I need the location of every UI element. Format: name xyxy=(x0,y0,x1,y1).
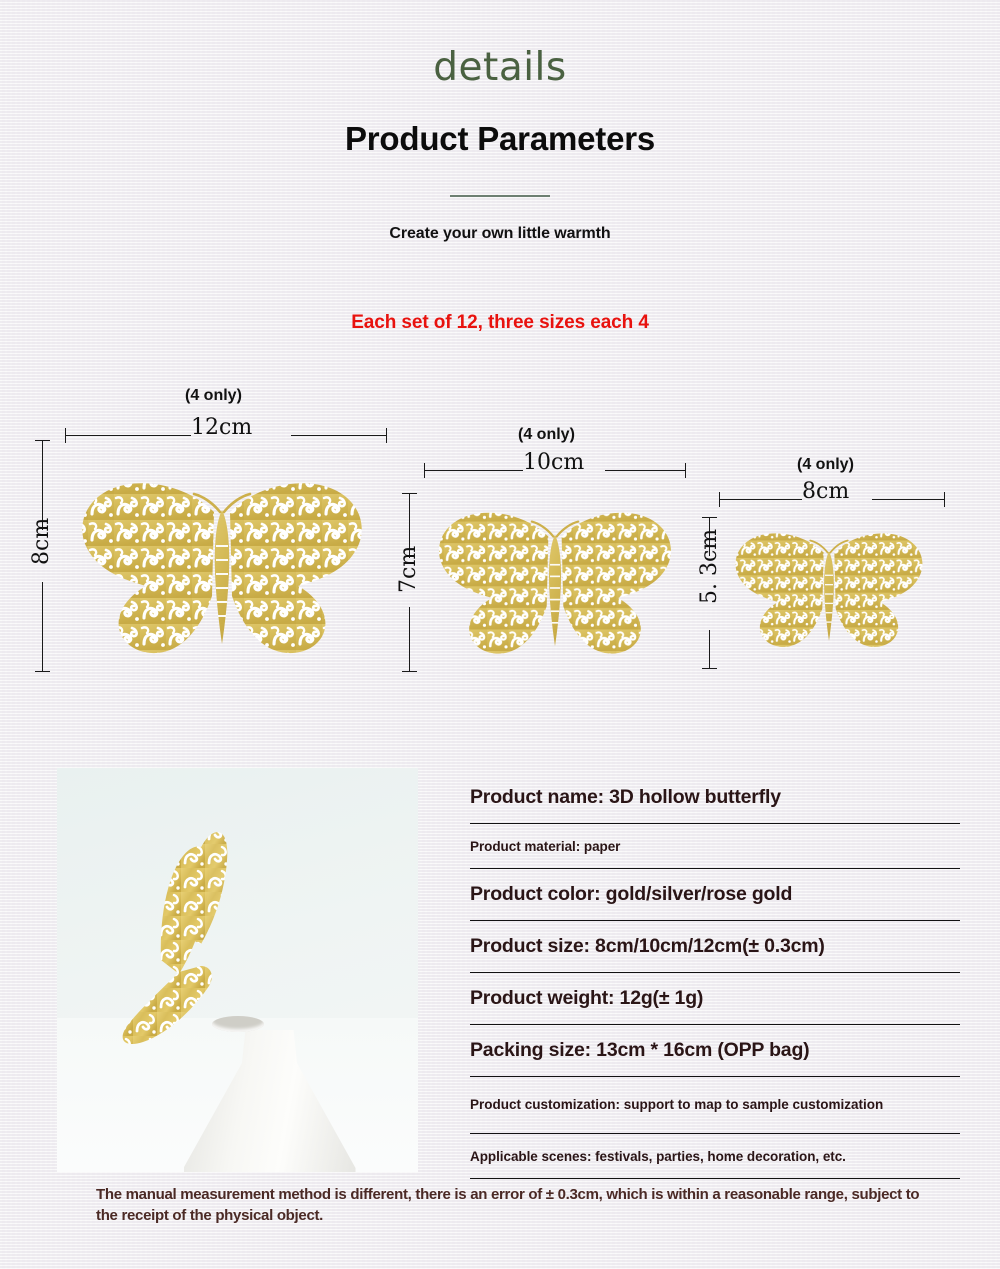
product-photo xyxy=(57,768,418,1172)
spec-row-product-name: Product name: 3D hollow butterfly xyxy=(470,772,960,824)
width-dimension-label-medium: 10cm xyxy=(523,452,584,474)
butterfly-illustration-medium xyxy=(422,500,688,666)
height-dimension-label-medium: 7cm xyxy=(398,547,420,593)
page-title: Product Parameters xyxy=(0,122,1000,155)
width-dimension-small: 8cm xyxy=(719,490,945,508)
size-quantity-label-medium: (4 only) xyxy=(518,427,575,443)
spec-row-product-weight: Product weight: 12g(± 1g) xyxy=(470,973,960,1025)
spec-row-product-color: Product color: gold/silver/rose gold xyxy=(470,869,960,921)
height-dimension-label-large: 8cm xyxy=(31,519,53,565)
set-quantity-note: Each set of 12, three sizes each 4 xyxy=(0,313,1000,332)
size-quantity-label-large: (4 only) xyxy=(185,388,242,404)
spec-row-product-customization: Product customization: support to map to… xyxy=(470,1077,960,1134)
width-dimension-label-large: 12cm xyxy=(191,417,252,439)
photo-butterfly-icon xyxy=(109,820,269,1070)
page-subtitle: Create your own little warmth xyxy=(0,226,1000,242)
spec-row-product-size: Product size: 8cm/10cm/12cm(± 0.3cm) xyxy=(470,921,960,973)
height-dimension-label-small: 5. 3cm xyxy=(699,532,721,604)
width-dimension-large: 12cm xyxy=(65,426,387,444)
butterfly-illustration-large xyxy=(62,468,382,668)
height-dimension-large: 8cm xyxy=(33,440,51,672)
width-dimension-medium: 10cm xyxy=(424,461,686,479)
butterfly-illustration-small xyxy=(722,523,936,657)
height-dimension-small: 5. 3cm xyxy=(700,517,718,669)
spec-row-applicable-scenes: Applicable scenes: festivals, parties, h… xyxy=(470,1134,960,1179)
details-eyebrow-heading: details xyxy=(0,48,1000,87)
spec-row-product-material: Product material: paper xyxy=(470,824,960,869)
size-quantity-label-small: (4 only) xyxy=(797,457,854,473)
product-spec-table: Product name: 3D hollow butterfly Produc… xyxy=(470,772,960,1179)
title-divider xyxy=(450,195,550,197)
height-dimension-medium: 7cm xyxy=(400,493,418,672)
measurement-disclaimer: The manual measurement method is differe… xyxy=(96,1184,926,1227)
spec-row-packing-size: Packing size: 13cm * 16cm (OPP bag) xyxy=(470,1025,960,1077)
width-dimension-label-small: 8cm xyxy=(802,481,849,503)
